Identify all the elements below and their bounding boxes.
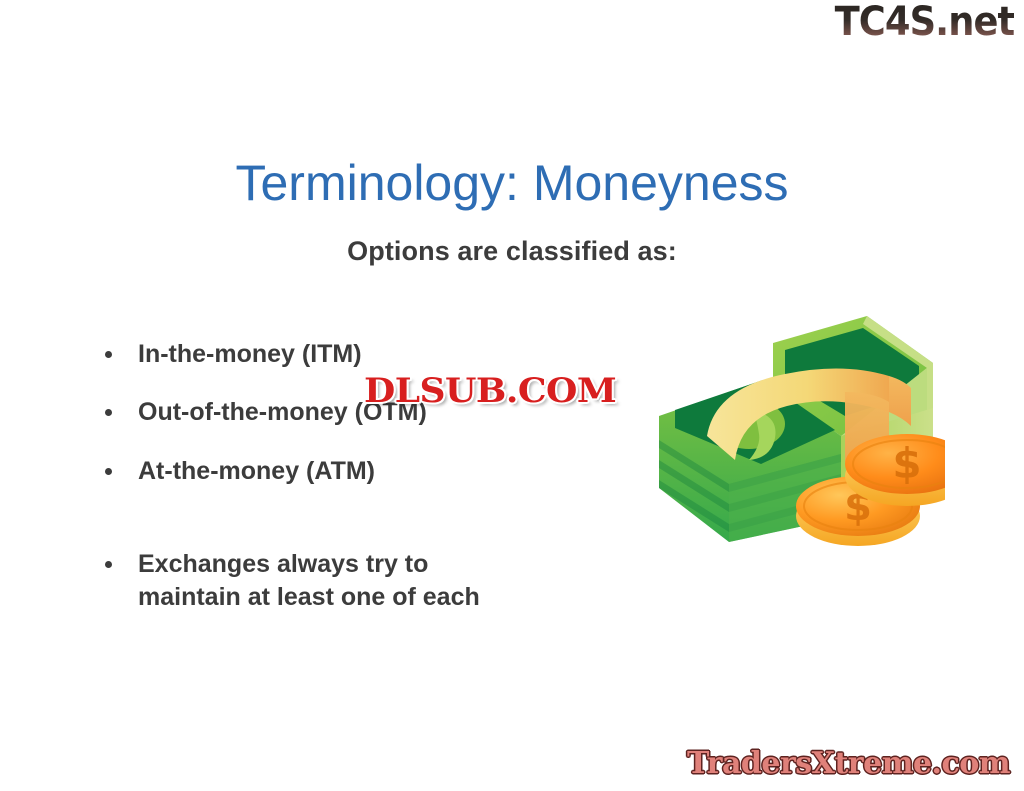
brand-tc4s-logo: TC4S.net: [834, 2, 1014, 42]
list-item: Exchanges always try to maintain at leas…: [96, 548, 656, 615]
bullet-text: At-the-money (ATM): [138, 455, 656, 488]
bullet-text-line-2: maintain at least one of each: [138, 581, 656, 614]
money-stack-illustration: $ $: [645, 288, 945, 553]
dlsub-watermark: DLSUB.COM: [364, 371, 616, 411]
exchanges-bullet-list: Exchanges always try to maintain at leas…: [96, 548, 656, 615]
page-title: Terminology: Moneyness: [0, 156, 1024, 211]
svg-text:$: $: [892, 439, 921, 488]
moneyness-bullet-list: In-the-money (ITM) Out-of-the-money (OTM…: [96, 338, 656, 488]
slide-subtitle: Options are classified as:: [0, 236, 1024, 267]
list-item: At-the-money (ATM): [96, 455, 656, 488]
brand-tradersxtreme-logo: TradersXtreme.com: [687, 746, 1010, 781]
list-item: In-the-money (ITM): [96, 338, 656, 371]
bullet-text-line-1: Exchanges always try to: [138, 548, 656, 581]
bullet-text: In-the-money (ITM): [138, 338, 656, 371]
slide-canvas: TC4S.net Terminology: Moneyness Options …: [0, 0, 1024, 791]
